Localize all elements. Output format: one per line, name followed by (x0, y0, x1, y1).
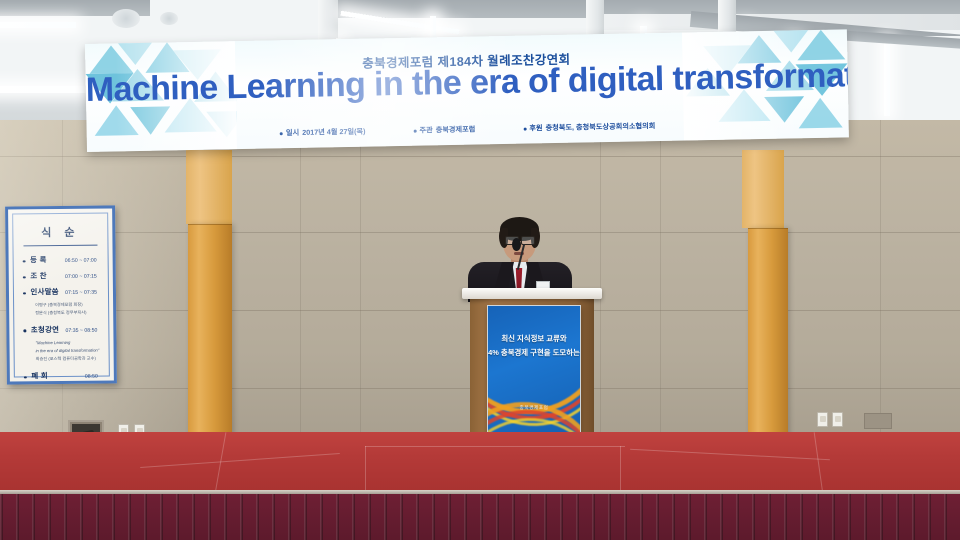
wall-vent (864, 413, 892, 429)
podium-desktop (462, 288, 602, 299)
credit-value: 충청북도, 충청북도상공회의소협의회 (545, 121, 655, 133)
podium-banner-line: 최신 지식정보 교류와 (488, 332, 580, 346)
bullet-icon (523, 127, 526, 130)
podium-banner-text: 최신 지식정보 교류와 4% 충북경제 구현을 도모하는 (488, 332, 580, 359)
podium-banner-line: 4% 충북경제 구현을 도모하는 (488, 346, 580, 360)
poster-glare (8, 208, 114, 381)
pillar-capital-right (742, 150, 784, 228)
microphone-icon (512, 238, 521, 251)
podium-logo: 충북경제포럼 (488, 405, 580, 411)
ceiling-downlight-icon (160, 12, 178, 25)
program-poster: 식 순 등 록 06:50 ~ 07:00 조 찬 07:00 ~ 07:15 … (5, 205, 117, 384)
pillar-right (748, 228, 788, 450)
stage-skirt (0, 494, 960, 540)
ceiling-downlight-icon (112, 9, 140, 28)
credit-label: 후원 (529, 123, 542, 133)
conference-hall-photo: 충북경제포럼 제184차 월례조찬강연회 Machine Learning in… (0, 0, 960, 540)
credit-sponsor: 후원 충청북도, 충청북도상공회의소협의회 (523, 121, 655, 134)
banner-glare (265, 36, 507, 149)
pillar-capital-left (186, 150, 232, 224)
event-banner: 충북경제포럼 제184차 월례조찬강연회 Machine Learning in… (85, 29, 849, 152)
stage-platform (0, 432, 960, 494)
pillar-left (188, 224, 232, 450)
power-outlet-icon (817, 412, 828, 427)
power-outlet-icon (832, 412, 843, 427)
